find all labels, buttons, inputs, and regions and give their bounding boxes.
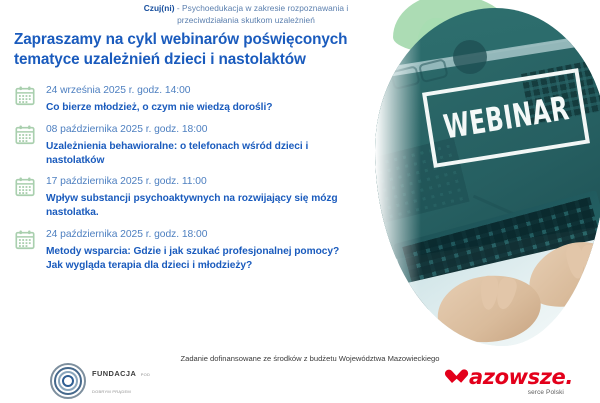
event-title: Co bierze młodzież, o czym nie wiedzą do… bbox=[46, 101, 354, 115]
artwork-region: WEBINAR bbox=[355, 0, 600, 355]
heart-icon bbox=[452, 370, 468, 385]
list-item: 24 października 2025 r. godz. 18:00 Meto… bbox=[14, 228, 354, 273]
laptop-photo: WEBINAR bbox=[375, 8, 600, 346]
mazowsze-tagline: serce Polski bbox=[452, 389, 564, 396]
page-title: Zapraszamy na cykl webinarów poświęconyc… bbox=[14, 30, 366, 69]
calendar-icon bbox=[14, 176, 36, 198]
hand-right bbox=[520, 233, 600, 318]
photo-left-fade bbox=[375, 8, 421, 346]
green-brush-stroke bbox=[393, 0, 511, 56]
webinar-poster: WEBINAR Czuj(ni) - Psychoedukacja w zakr… bbox=[0, 0, 600, 403]
camera-lens-shape bbox=[453, 40, 487, 74]
fundacja-logo: FUNDACJA POD DOBRYM PRĄDEM bbox=[50, 362, 170, 400]
list-item: 24 września 2025 r. godz. 14:00 Co bierz… bbox=[14, 84, 354, 115]
hand-left bbox=[433, 269, 545, 346]
event-title: Metody wsparcia: Gdzie i jak szukać prof… bbox=[46, 245, 354, 273]
events-list: 24 września 2025 r. godz. 14:00 Co bierz… bbox=[14, 84, 354, 281]
list-item: 17 października 2025 r. godz. 11:00 Wpły… bbox=[14, 175, 354, 220]
keyboard-texture-top bbox=[521, 55, 600, 125]
laptop-palmrest bbox=[375, 239, 600, 346]
event-title: Wpływ substancji psychoaktywnych na rozw… bbox=[46, 192, 354, 220]
calendar-icon bbox=[14, 229, 36, 251]
laptop-keyboard bbox=[393, 190, 600, 314]
event-date: 24 września 2025 r. godz. 14:00 bbox=[46, 84, 354, 98]
fundacja-wordmark: FUNDACJA POD DOBRYM PRĄDEM bbox=[92, 364, 170, 398]
event-date: 17 października 2025 r. godz. 11:00 bbox=[46, 175, 354, 189]
event-date: 08 października 2025 r. godz. 18:00 bbox=[46, 123, 354, 137]
event-date: 24 października 2025 r. godz. 18:00 bbox=[46, 228, 354, 242]
brand-name: Czuj(ni) bbox=[144, 3, 175, 13]
laptop-screen-shape bbox=[375, 33, 600, 260]
event-body: 17 października 2025 r. godz. 11:00 Wpły… bbox=[46, 175, 354, 220]
kicker-separator: - bbox=[175, 3, 183, 13]
webinar-badge: WEBINAR bbox=[422, 68, 590, 168]
event-body: 24 września 2025 r. godz. 14:00 Co bierz… bbox=[46, 84, 354, 115]
mazowsze-logo: azowsze. serce Polski bbox=[452, 366, 584, 400]
calendar-icon bbox=[14, 85, 36, 107]
calendar-icon bbox=[14, 124, 36, 146]
funding-note: Zadanie dofinansowane ze środków z budże… bbox=[150, 353, 470, 364]
list-item: 08 października 2025 r. godz. 18:00 Uzal… bbox=[14, 123, 354, 168]
mazowsze-wordmark: azowsze. bbox=[452, 366, 584, 388]
laptop-lid-edge bbox=[386, 29, 600, 77]
mazowsze-wordmark-text: azowsze. bbox=[469, 365, 573, 389]
rings-icon bbox=[50, 363, 86, 399]
event-title: Uzależnienia behawioralne: o telefonach … bbox=[46, 140, 354, 168]
event-body: 24 października 2025 r. godz. 18:00 Meto… bbox=[46, 228, 354, 273]
event-body: 08 października 2025 r. godz. 18:00 Uzal… bbox=[46, 123, 354, 168]
green-brush-stroke-accent bbox=[417, 18, 457, 66]
kicker-text: Psychoedukacja w zakresie rozpoznawania … bbox=[177, 3, 348, 25]
fundacja-name: FUNDACJA bbox=[92, 369, 136, 378]
keyboard-texture-left bbox=[375, 137, 470, 224]
eyeglasses-icon bbox=[390, 57, 454, 88]
kicker-line: Czuj(ni) - Psychoedukacja w zakresie roz… bbox=[112, 3, 380, 26]
pen-shape bbox=[473, 195, 525, 221]
webinar-badge-label: WEBINAR bbox=[441, 89, 571, 146]
